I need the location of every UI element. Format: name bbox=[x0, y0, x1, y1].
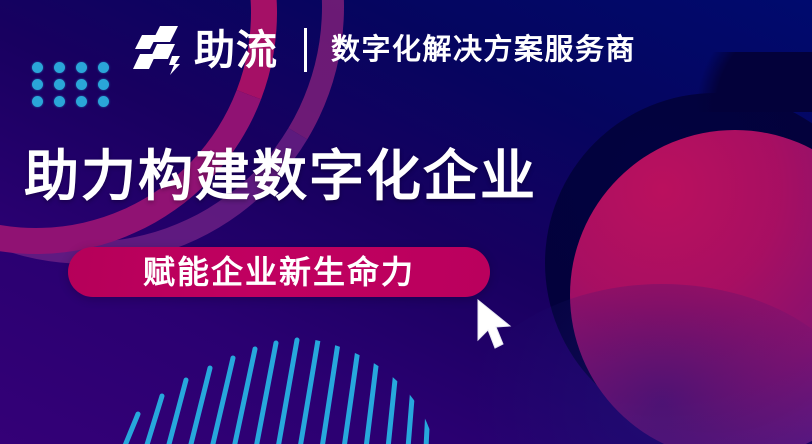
cta-pill-label: 赋能企业新生命力 bbox=[143, 256, 415, 288]
grid-dot bbox=[32, 62, 43, 73]
header-divider bbox=[304, 28, 307, 72]
grid-dot bbox=[98, 62, 109, 73]
dark-wedge-decoration bbox=[662, 52, 812, 112]
brand-header: 助流 数字化解决方案服务商 bbox=[130, 18, 636, 82]
dot-grid-decoration bbox=[32, 62, 120, 113]
grid-dot bbox=[32, 96, 43, 107]
grid-dot bbox=[54, 96, 65, 107]
promotional-banner: 助流 数字化解决方案服务商 助力构建数字化企业 赋能企业新生命力 bbox=[0, 0, 812, 444]
grid-dot bbox=[76, 79, 87, 90]
cta-pill-button[interactable]: 赋能企业新生命力 bbox=[68, 247, 490, 297]
brand-tagline: 数字化解决方案服务商 bbox=[331, 36, 636, 65]
grid-dot bbox=[54, 79, 65, 90]
mouse-pointer-icon bbox=[474, 298, 516, 350]
grid-dot bbox=[76, 62, 87, 73]
line-fan-decoration bbox=[96, 318, 436, 444]
page-title: 助力构建数字化企业 bbox=[24, 148, 537, 206]
brand-wordmark: 助流 bbox=[194, 30, 278, 71]
grid-dot bbox=[32, 79, 43, 90]
grid-dot bbox=[54, 62, 65, 73]
zhuliu-lightning-blocks-logo-icon bbox=[130, 22, 186, 78]
grid-dot bbox=[76, 96, 87, 107]
grid-dot bbox=[98, 96, 109, 107]
grid-dot bbox=[98, 79, 109, 90]
